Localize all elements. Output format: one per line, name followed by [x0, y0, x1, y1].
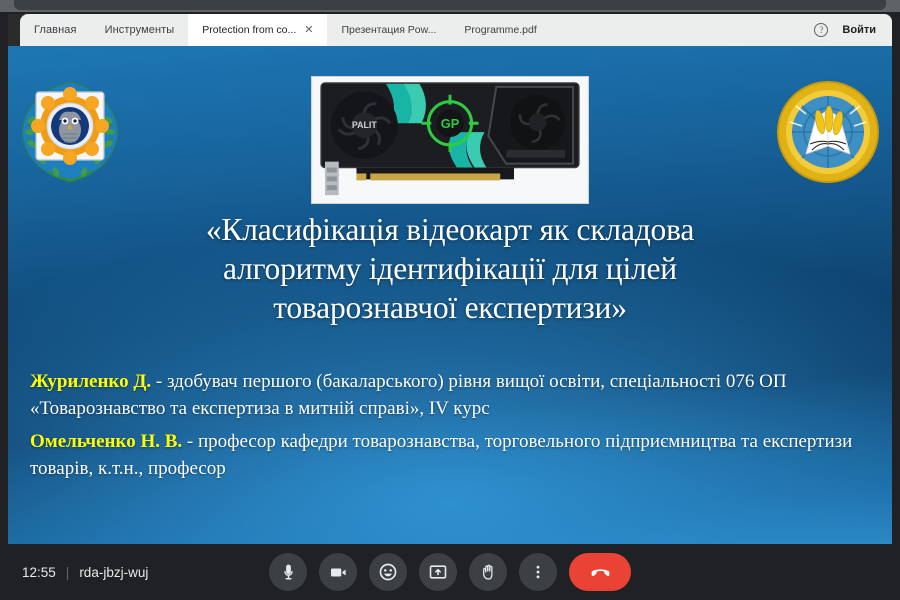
meeting-code[interactable]: rda-jbzj-wuj	[79, 565, 148, 580]
author-entry-2: Омельченко Н. В. - професор кафедри това…	[30, 428, 876, 482]
camera-icon	[329, 563, 348, 582]
document-tab-presentation-label: Презентация Pow...	[341, 24, 436, 36]
menu-item-home-label: Главная	[34, 24, 77, 36]
pdf-reader-tabstrip: Главная Инструменты Protection from co..…	[8, 14, 892, 46]
graphics-card-photo: PALIT GP	[311, 76, 589, 204]
faculty-gold-seal-emblem	[776, 80, 880, 184]
author-entry-1: Журиленко Д. - здобувач першого (бакалар…	[30, 368, 876, 422]
camera-button[interactable]	[319, 553, 357, 591]
document-tab-protection[interactable]: Protection from co... ✕	[188, 14, 327, 46]
phone-hangup-icon	[588, 560, 613, 585]
document-tab-protection-label: Protection from co...	[202, 24, 296, 36]
document-tab-programme[interactable]: Programme.pdf	[450, 14, 550, 46]
microphone-button[interactable]	[269, 553, 307, 591]
meet-info: 12:55 | rda-jbzj-wuj	[0, 565, 148, 580]
author-name-2: Омельченко Н. В.	[30, 431, 182, 452]
menu-item-tools-label: Инструменты	[105, 24, 175, 36]
shared-application-window: Главная Инструменты Protection from co..…	[8, 14, 892, 544]
presentation-slide: PALIT GP	[8, 46, 892, 544]
page-title-line-2: алгоритму ідентифікації для цілей	[48, 249, 852, 288]
authors-block: Журиленко Д. - здобувач першого (бакалар…	[30, 368, 876, 488]
help-icon[interactable]: ?	[814, 23, 828, 37]
page-title-line-3: товарознавчої експертизи»	[48, 288, 852, 327]
page-title-line-1: «Класифікація відеокарт як складова	[48, 210, 852, 249]
present-screen-icon	[428, 562, 448, 582]
author-name-1: Журиленко Д.	[30, 371, 151, 392]
meet-time: 12:55	[22, 565, 56, 580]
document-tab-presentation[interactable]: Презентация Pow...	[327, 14, 450, 46]
signin-button[interactable]: Войти	[842, 24, 876, 36]
screenshare-top-strip	[0, 0, 900, 12]
close-icon[interactable]: ✕	[304, 25, 313, 36]
raise-hand-button[interactable]	[469, 553, 507, 591]
frame-edge-left	[0, 12, 8, 544]
microphone-icon	[279, 563, 298, 582]
university-owl-emblem	[18, 80, 122, 184]
svg-text:PALIT: PALIT	[352, 120, 377, 130]
frame-edge-right	[892, 12, 900, 544]
more-options-button[interactable]	[519, 553, 557, 591]
svg-text:GP: GP	[441, 116, 460, 131]
meet-bottom-bar: 12:55 | rda-jbzj-wuj	[0, 544, 900, 600]
reactions-button[interactable]	[369, 553, 407, 591]
menu-item-tools[interactable]: Инструменты	[91, 14, 189, 46]
tabstrip-tabs: Главная Инструменты Protection from co..…	[8, 14, 814, 46]
meet-controls	[269, 553, 631, 591]
more-vertical-icon	[529, 563, 547, 581]
end-call-button[interactable]	[569, 553, 631, 591]
document-tab-programme-label: Programme.pdf	[464, 24, 536, 36]
page-title: «Класифікація відеокарт як складова алго…	[48, 210, 852, 327]
tabstrip-right-actions: ? Войти	[814, 14, 892, 46]
menu-item-home[interactable]: Главная	[20, 14, 91, 46]
raised-hand-icon	[479, 563, 498, 582]
emoji-smile-icon	[378, 562, 398, 582]
meet-presentation-screen: Главная Инструменты Protection from co..…	[0, 0, 900, 600]
meet-separator: |	[66, 565, 70, 580]
present-button[interactable]	[419, 553, 457, 591]
screenshare-top-strip-inner	[14, 0, 886, 10]
